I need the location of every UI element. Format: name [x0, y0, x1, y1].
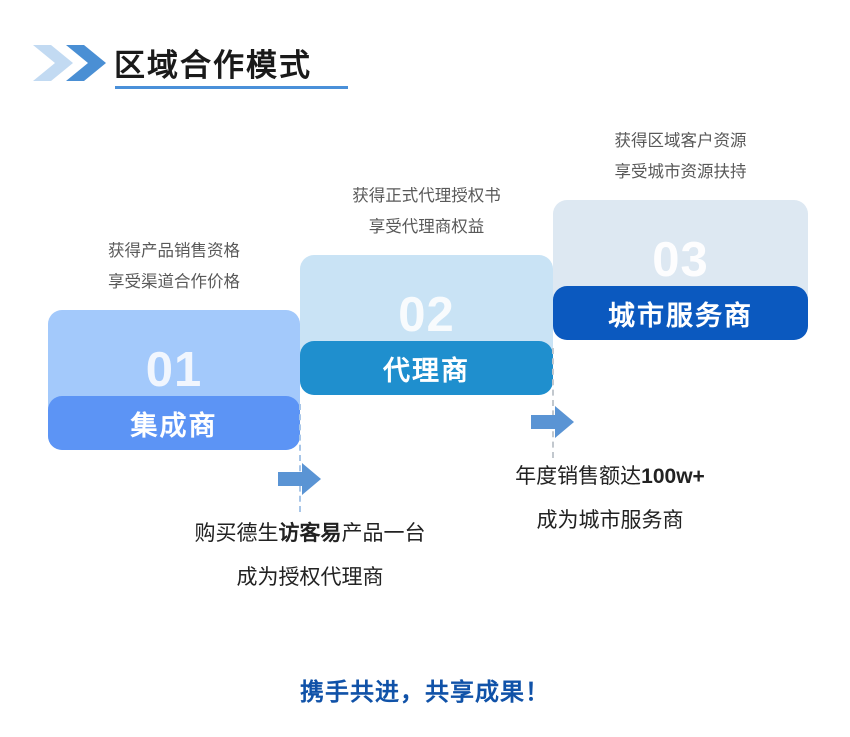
step-01-benefit-2: 享受渠道合作价格	[48, 267, 300, 298]
step-01-number: 01	[48, 342, 300, 398]
step-01-benefit-1: 获得产品销售资格	[48, 236, 300, 267]
transition-1-suffix: 产品一台	[342, 522, 426, 545]
transition-2-strong: 100w+	[641, 465, 705, 488]
transition-2-prefix: 年度销售额达	[515, 465, 641, 488]
transition-1-line-2: 成为授权代理商	[140, 556, 480, 600]
page-title: 区域合作模式	[114, 40, 312, 85]
step-02-benefit-1: 获得正式代理授权书	[300, 181, 553, 212]
transition-2-line-1: 年度销售额达100w+	[445, 455, 775, 499]
arrow-right-icon-2	[531, 405, 575, 444]
step-03-benefit-1: 获得区域客户资源	[553, 126, 808, 157]
step-03-benefits: 获得区域客户资源 享受城市资源扶持	[553, 126, 808, 188]
page-header: 区域合作模式	[0, 0, 850, 110]
step-02-benefit-2: 享受代理商权益	[300, 212, 553, 243]
step-01-benefits: 获得产品销售资格 享受渠道合作价格	[48, 236, 300, 298]
transition-1-line-1: 购买德生访客易产品一台	[140, 512, 480, 556]
step-02-role-bar[interactable]: 代理商	[300, 341, 553, 395]
transition-2-line-2: 成为城市服务商	[445, 499, 775, 543]
step-01-role-bar[interactable]: 集成商	[48, 396, 300, 450]
step-02-number: 02	[300, 287, 553, 343]
step-03-benefit-2: 享受城市资源扶持	[553, 157, 808, 188]
arrow-right-icon-1	[278, 462, 322, 501]
footer-slogan: 携手共进，共享成果！	[0, 672, 850, 707]
transition-caption-1: 购买德生访客易产品一台 成为授权代理商	[140, 512, 480, 600]
step-03-role-bar[interactable]: 城市服务商	[553, 286, 808, 340]
step-03-number: 03	[553, 232, 808, 288]
transition-1-prefix: 购买德生	[195, 522, 279, 545]
transition-caption-2: 年度销售额达100w+ 成为城市服务商	[445, 455, 775, 543]
double-chevron-icon	[33, 43, 109, 83]
title-underline	[115, 86, 348, 89]
step-02-benefits: 获得正式代理授权书 享受代理商权益	[300, 181, 553, 243]
transition-1-strong: 访客易	[279, 522, 342, 545]
